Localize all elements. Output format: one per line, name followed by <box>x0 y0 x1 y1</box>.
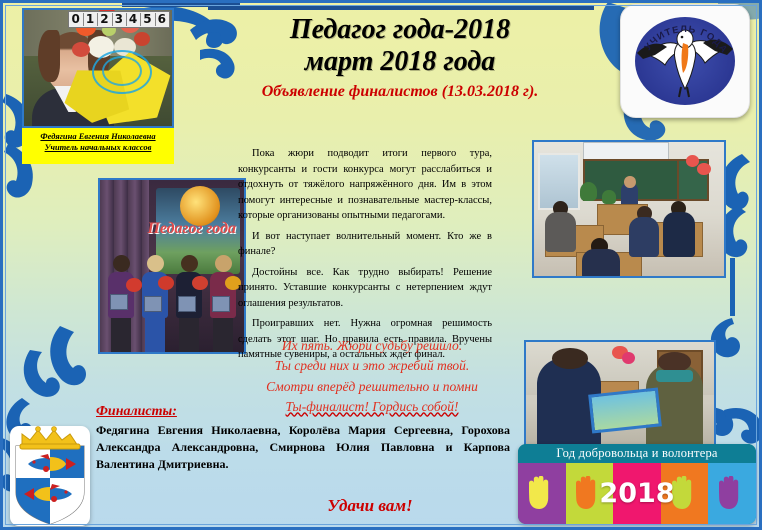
poster-title: Педагог года-2018 март 2018 года Объявле… <box>200 14 600 101</box>
stage-screen-text: Педагог года <box>147 220 236 238</box>
logo-pelican-icon: УЧИТЕЛЬ ГОДА <box>631 11 739 111</box>
body-paragraph-3: Достойны все. Как трудно выбирать! Решен… <box>238 265 492 312</box>
title-rule <box>208 6 594 10</box>
poem-block: Их пять. Жюри судьбу решило. Ты среди ни… <box>232 336 512 417</box>
poem-line-4: Ты-финалист! Гордись собой! <box>232 397 512 417</box>
poem-line-2: Ты среди них и это жребий твой. <box>232 356 512 376</box>
photo-teacher-caption: Федягина Евгения Николаевна Учитель нача… <box>22 128 174 164</box>
volunteer-year-banner: Год добровольца и волонтера <box>518 444 756 524</box>
poem-line-3: Смотри вперёд решительно и помни <box>232 377 512 397</box>
coat-of-arms-icon <box>10 426 90 526</box>
title-line-1: Педагог года-2018 <box>200 14 600 46</box>
photo-teacher-with-flowers: 0123456 <box>22 8 174 128</box>
caption-line-1: Федягина Евгения Николаевна <box>22 131 174 142</box>
photo-master-class <box>532 140 726 278</box>
poster-root: 0123456 Федягина Евгения Николаевна Учит… <box>0 0 762 530</box>
photo-number-strip: 0123456 <box>68 11 170 28</box>
caption-line-2: Учитель начальных классов <box>22 142 174 153</box>
good-luck-text: Удачи вам! <box>230 496 510 516</box>
body-paragraph-1: Пока жюри подводит итоги первого тура, к… <box>238 146 492 224</box>
volunteer-banner-year: 2018 <box>518 463 756 524</box>
photo-finalists-on-stage: Педагог года <box>98 178 246 354</box>
body-paragraph-2: И вот наступает волнительный момент. Кто… <box>238 229 492 260</box>
volunteer-banner-caption: Год добровольца и волонтера <box>518 444 756 463</box>
coat-of-arms <box>10 426 90 526</box>
poem-line-1: Их пять. Жюри судьбу решило. <box>232 336 512 356</box>
finalists-names: Федягина Евгения Николаевна, Королёва Ма… <box>96 422 510 473</box>
photo-presentation <box>524 340 716 446</box>
title-line-2: март 2018 года <box>200 46 600 78</box>
body-text: Пока жюри подводит итоги первого тура, к… <box>238 146 492 368</box>
poster-subtitle: Объявление финалистов (13.03.2018 г). <box>200 83 600 101</box>
finalists-label: Финалисты: <box>96 404 177 420</box>
teacher-of-the-year-logo: УЧИТЕЛЬ ГОДА <box>620 4 750 118</box>
